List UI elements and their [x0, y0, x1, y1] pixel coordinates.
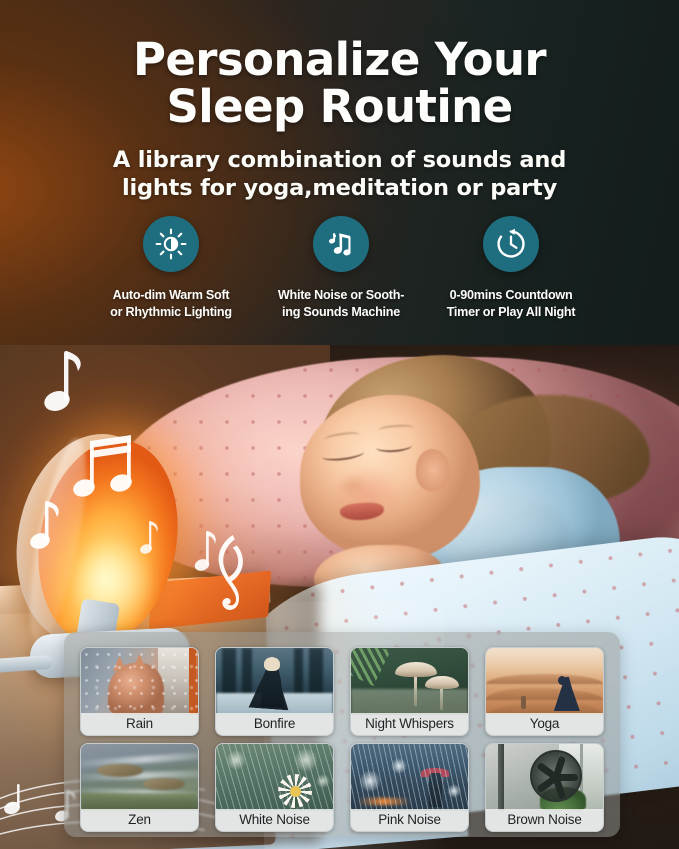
bonfire-artwork [216, 648, 333, 715]
sound-tile-pink-noise[interactable]: Pink Noise [350, 743, 469, 832]
rain-artwork [81, 648, 198, 715]
product-infographic: Personalize Your Sleep Routine A library… [0, 0, 679, 849]
sound-tile-rain[interactable]: Rain [80, 647, 199, 736]
music-notes-icon [313, 216, 369, 272]
title-line-2: Sleep Routine [0, 83, 679, 130]
hero-header: Personalize Your Sleep Routine A library… [0, 0, 679, 345]
child-nose [338, 475, 368, 497]
feature-caption: White Noise or Sooth- ing Sounds Machine [263, 287, 419, 320]
tile-label: Zen [81, 809, 198, 831]
tile-thumbnail [81, 648, 198, 715]
countdown-timer-icon [483, 216, 539, 272]
tile-label: Bonfire [216, 713, 333, 735]
tile-thumbnail [351, 744, 468, 811]
sound-library-panel: Rain Bonfire [64, 632, 620, 837]
sound-tile-bonfire[interactable]: Bonfire [215, 647, 334, 736]
tile-thumbnail [486, 648, 603, 715]
tile-thumbnail [351, 648, 468, 715]
brown-noise-artwork [486, 744, 603, 811]
tile-label: White Noise [216, 809, 333, 831]
tile-label: Yoga [486, 713, 603, 735]
page-subtitle: A library combination of sounds and ligh… [0, 146, 679, 202]
tile-label: Rain [81, 713, 198, 735]
night-whispers-artwork [351, 648, 468, 715]
feature-timer: 0-90mins Countdown Timer or Play All Nig… [436, 216, 586, 320]
zen-artwork [81, 744, 198, 811]
tile-thumbnail [216, 648, 333, 715]
sound-tile-white-noise[interactable]: White Noise [215, 743, 334, 832]
subtitle-line-1: A library combination of sounds and [113, 147, 566, 173]
feature-caption: 0-90mins Countdown Timer or Play All Nig… [432, 287, 590, 320]
title-line-1: Personalize Your [133, 33, 546, 86]
tile-label: Night Whispers [351, 713, 468, 735]
sound-tile-brown-noise[interactable]: Brown Noise [485, 743, 604, 832]
child-ear [416, 449, 450, 491]
sound-tile-yoga[interactable]: Yoga [485, 647, 604, 736]
tile-label: Brown Noise [486, 809, 603, 831]
feature-auto-dim: Auto-dim Warm Soft or Rhythmic Lighting [96, 216, 246, 320]
tile-thumbnail [81, 744, 198, 811]
feature-caption: Auto-dim Warm Soft or Rhythmic Lighting [91, 287, 251, 320]
tile-label: Pink Noise [351, 809, 468, 831]
subtitle-line-2: lights for yoga,meditation or party [0, 174, 679, 202]
white-noise-artwork [216, 744, 333, 811]
feature-row: Auto-dim Warm Soft or Rhythmic Lighting [96, 216, 586, 320]
sound-tile-zen[interactable]: Zen [80, 743, 199, 832]
tile-thumbnail [486, 744, 603, 811]
feature-sounds: White Noise or Sooth- ing Sounds Machine [266, 216, 416, 320]
pink-noise-artwork [351, 744, 468, 811]
brightness-auto-dim-icon [143, 216, 199, 272]
sound-tile-night-whispers[interactable]: Night Whispers [350, 647, 469, 736]
yoga-artwork [486, 648, 603, 715]
tile-thumbnail [216, 744, 333, 811]
sound-tile-grid: Rain Bonfire [80, 647, 604, 832]
page-title: Personalize Your Sleep Routine [0, 36, 679, 130]
